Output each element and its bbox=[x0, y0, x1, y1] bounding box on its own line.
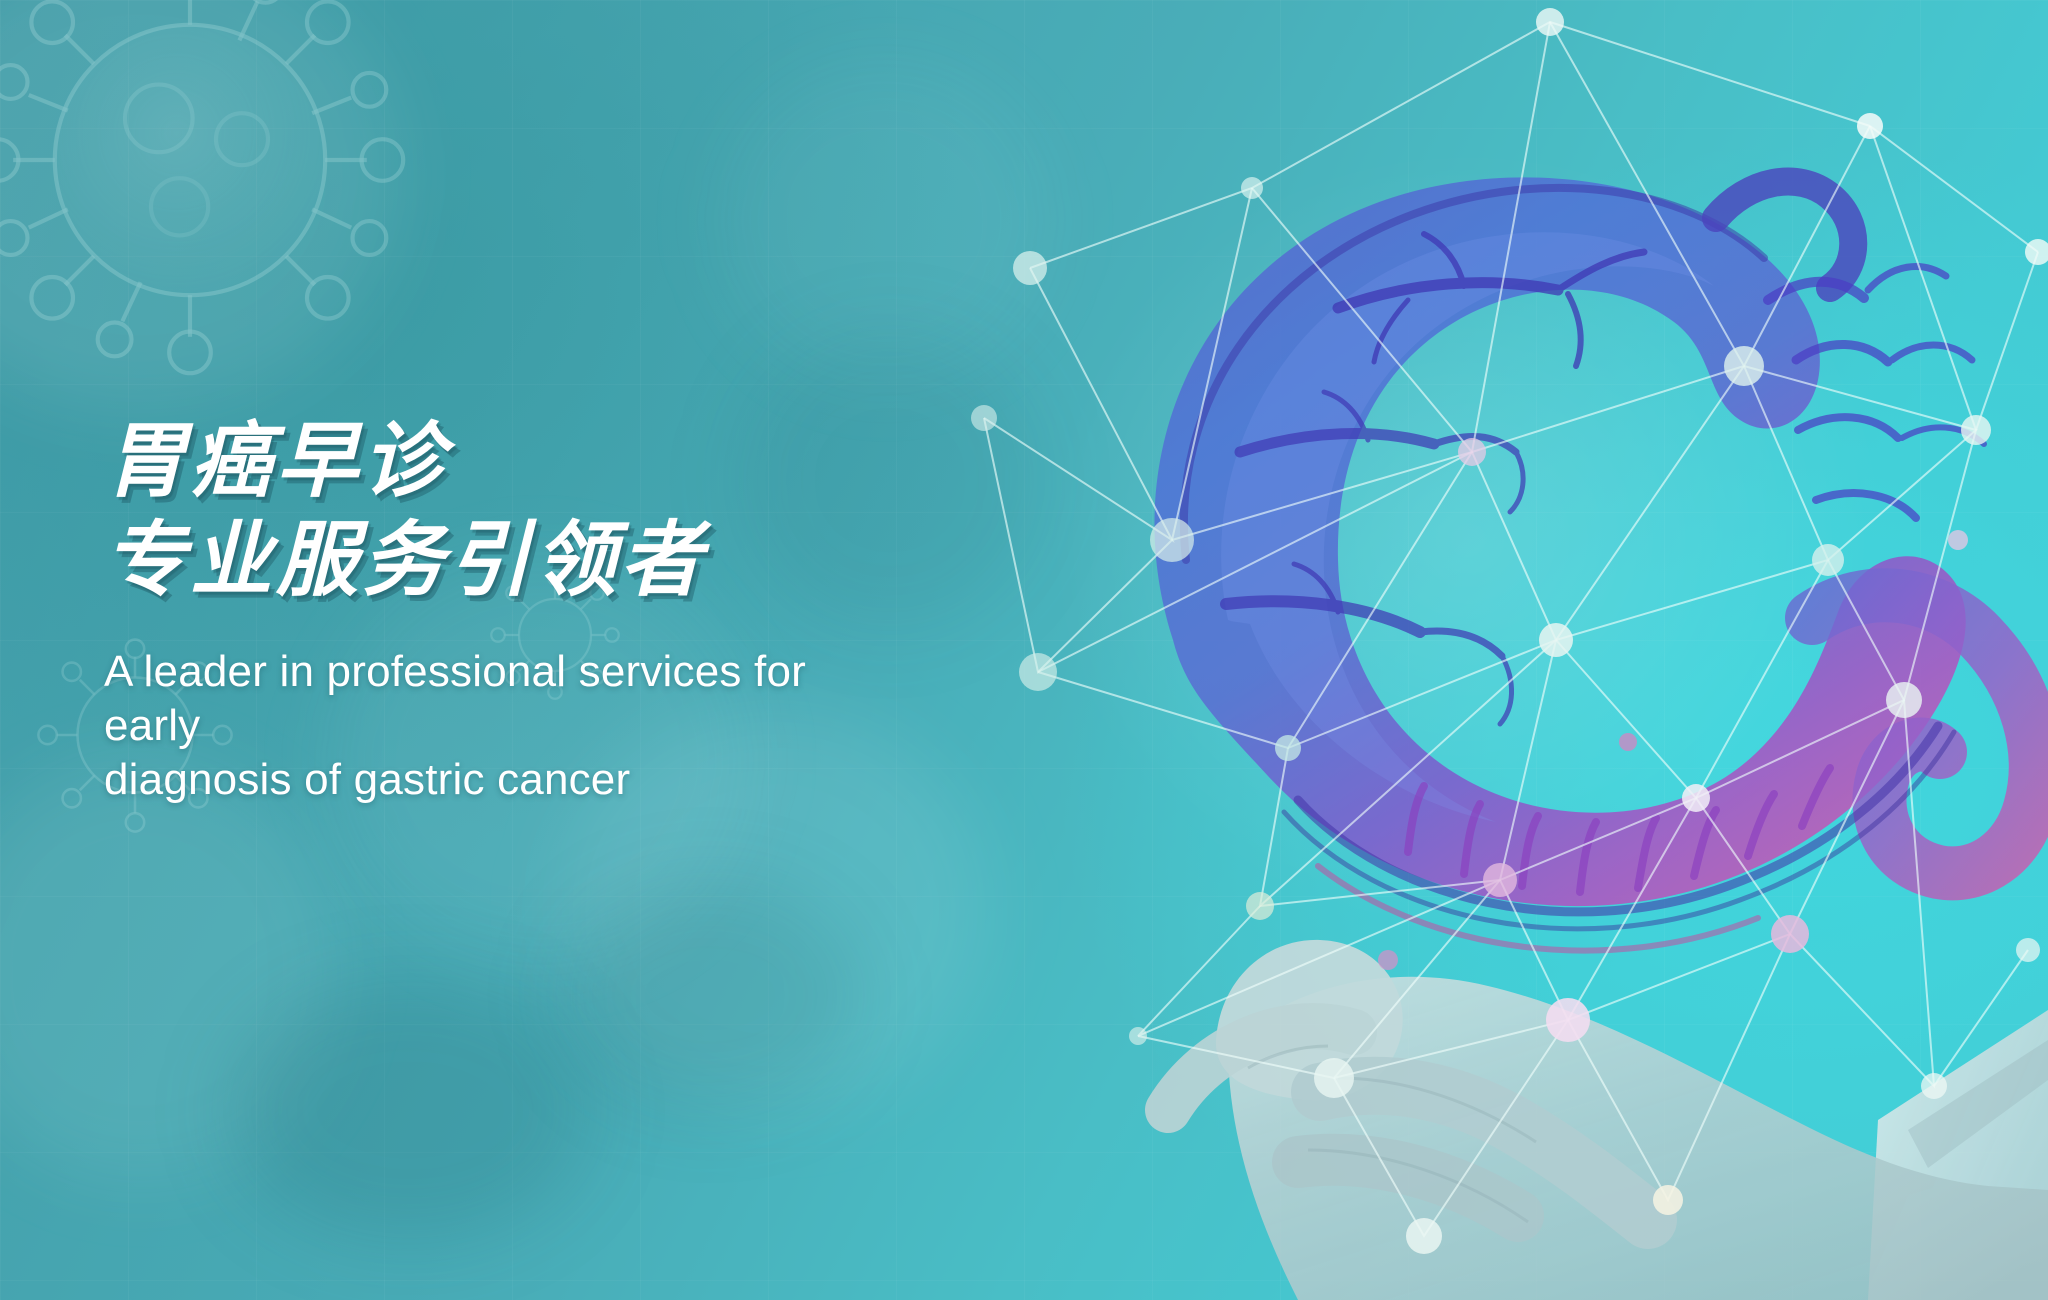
bokeh-cell-1 bbox=[0, 0, 400, 410]
headline-zh-line-2: 专业服务引领者 bbox=[104, 517, 1104, 606]
hero-copy: 胃癌早诊 专业服务引领者 A leader in professional se… bbox=[104, 418, 1104, 807]
hero-banner: 胃癌早诊 专业服务引领者 A leader in professional se… bbox=[0, 0, 2048, 1300]
bokeh-cell-5 bbox=[720, 60, 1050, 380]
open-hand-illustration bbox=[1168, 940, 2048, 1300]
headline-zh-line-1: 胃癌早诊 bbox=[104, 418, 1104, 507]
subtitle-en-line-2: diagnosis of gastric cancer bbox=[104, 753, 894, 807]
bokeh-cell-shadow-1 bbox=[230, 980, 590, 1240]
polygon-network-overlay bbox=[971, 8, 2048, 1254]
subtitle-en: A leader in professional services for ea… bbox=[104, 645, 894, 807]
subtitle-en-line-1: A leader in professional services for ea… bbox=[104, 645, 894, 753]
bokeh-cell-shadow-2 bbox=[560, 880, 860, 1110]
stomach-illustration bbox=[1154, 177, 2035, 950]
bokeh-cell-4 bbox=[0, 760, 340, 1180]
coronavirus-watermark-large bbox=[0, 0, 450, 420]
